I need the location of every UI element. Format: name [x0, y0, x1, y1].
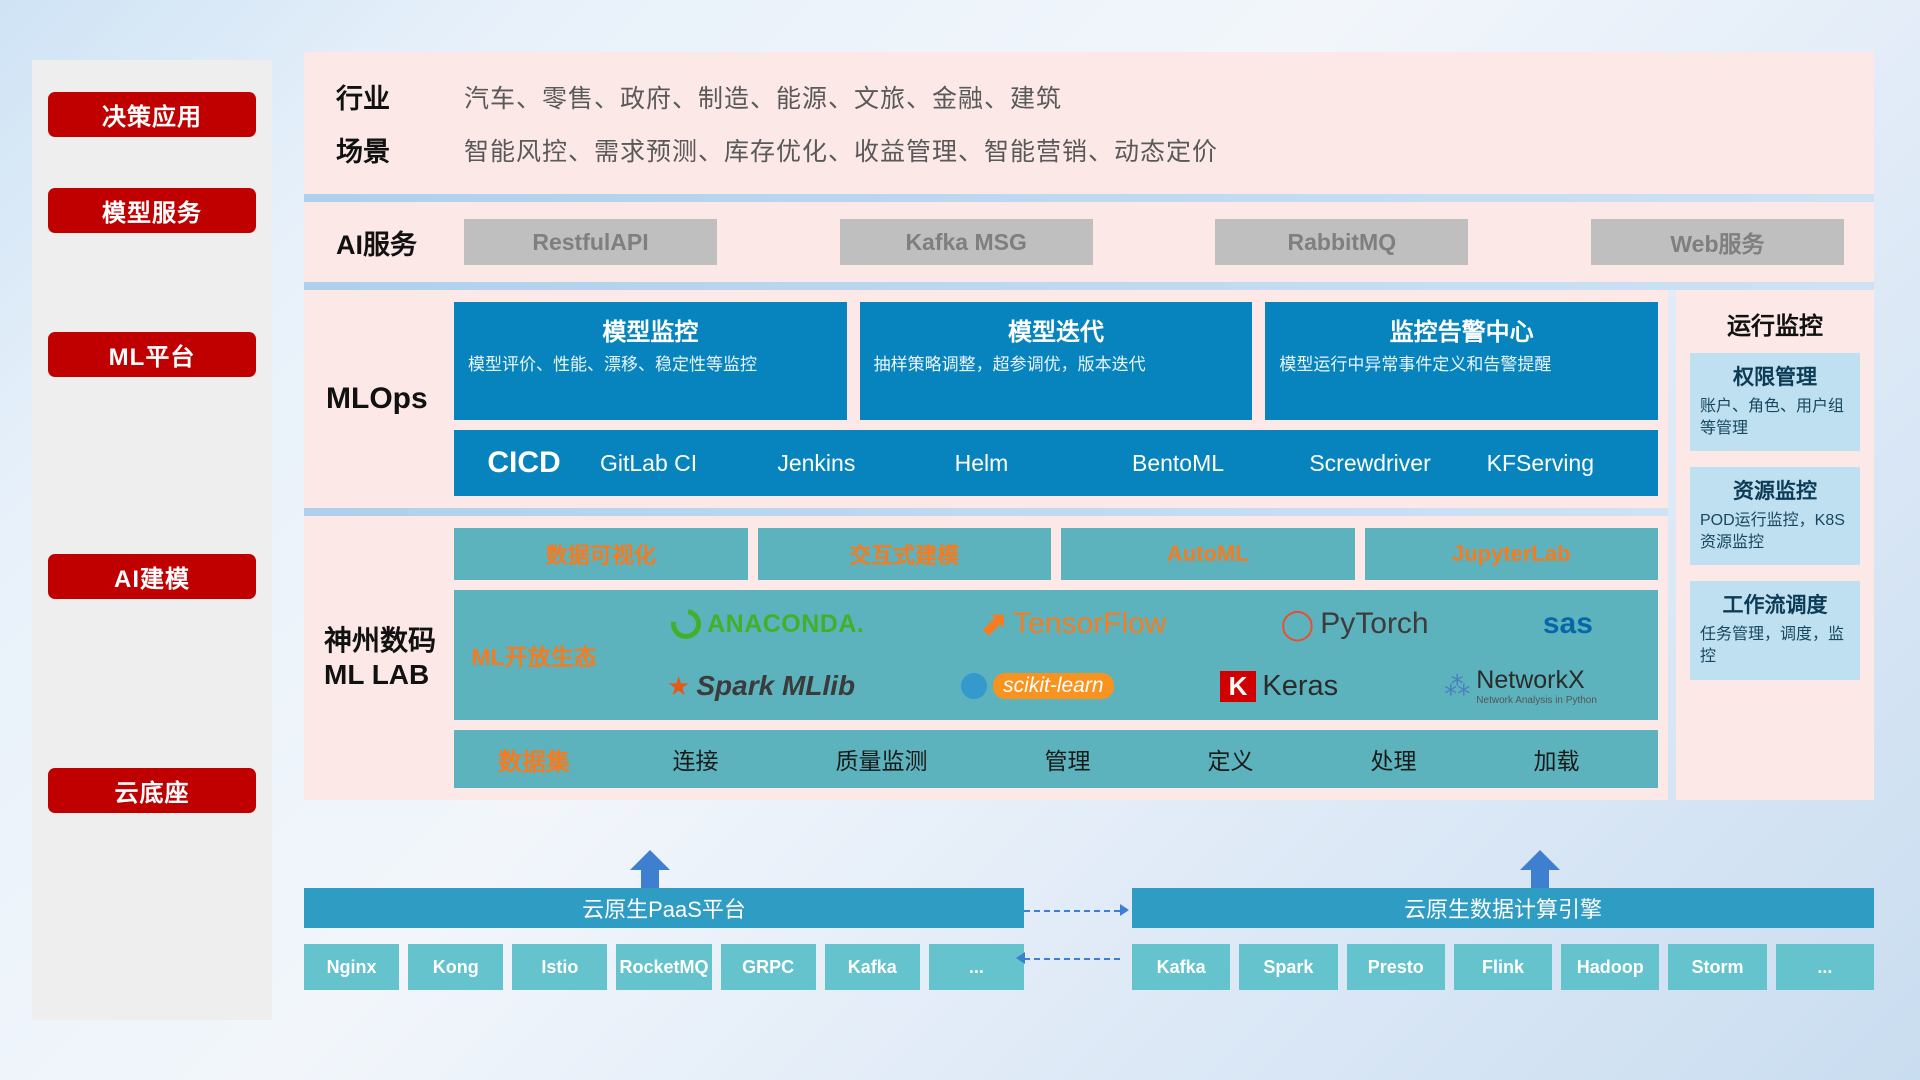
- sas-label: sas: [1543, 607, 1593, 641]
- pytorch-label: PyTorch: [1320, 607, 1428, 641]
- platform-and-monitoring: MLOps 模型监控 模型评价、性能、漂移、稳定性等监控 模型迭代 抽样策略调整…: [304, 290, 1874, 800]
- compute-chip-flink[interactable]: Flink: [1454, 944, 1552, 990]
- dataset-item-process[interactable]: 处理: [1371, 742, 1417, 776]
- card-title: 资源监控: [1700, 475, 1850, 505]
- industry-row: 行业 汽车、零售、政府、制造、能源、文旅、金融、建筑: [304, 70, 1874, 123]
- compute-chip-kafka[interactable]: Kafka: [1132, 944, 1230, 990]
- card-desc: POD运行监控，K8S资源监控: [1700, 510, 1850, 553]
- industry-label: 行业: [304, 77, 464, 116]
- card-title: 监控告警中心: [1279, 312, 1644, 347]
- eco-logo-row-1: ANACONDA. ⬈ TensorFlow ◯ PyT: [614, 595, 1650, 653]
- mlops-card-list: 模型监控 模型评价、性能、漂移、稳定性等监控 模型迭代 抽样策略调整，超参调优，…: [454, 302, 1658, 420]
- card-desc: 抽样策略调整，超参调优，版本迭代: [874, 354, 1239, 377]
- band-divider: [304, 508, 1668, 516]
- ml-lab-tab-list: 数据可视化 交互式建模 AutoML JupyterLab: [454, 528, 1658, 580]
- paas-chip-rocketmq[interactable]: RocketMQ: [616, 944, 711, 990]
- mlops-label: MLOps: [304, 302, 454, 496]
- monitor-card-permission[interactable]: 权限管理 账户、角色、用户组等管理: [1690, 353, 1860, 451]
- mlops-card-alert-center[interactable]: 监控告警中心 模型运行中异常事件定义和告警提醒: [1265, 302, 1658, 420]
- dataset-item-list: 连接 质量监测 管理 定义 处理 加载: [614, 742, 1658, 776]
- main-stack: 行业 汽车、零售、政府、制造、能源、文旅、金融、建筑 场景 智能风控、需求预测、…: [304, 52, 1874, 800]
- mlops-card-model-monitoring[interactable]: 模型监控 模型评价、性能、漂移、稳定性等监控: [454, 302, 847, 420]
- stage-chip-decision-app[interactable]: 决策应用: [48, 92, 256, 137]
- ml-lab-label-line1: 神州数码: [324, 624, 436, 658]
- compute-chip-storm[interactable]: Storm: [1668, 944, 1766, 990]
- monitor-card-workflow[interactable]: 工作流调度 任务管理，调度，监控: [1690, 581, 1860, 679]
- paas-compute-link: [1024, 906, 1136, 964]
- card-title: 权限管理: [1700, 361, 1850, 391]
- industry-values: 汽车、零售、政府、制造、能源、文旅、金融、建筑: [464, 79, 1062, 115]
- runtime-monitoring-sidebar: 运行监控 权限管理 账户、角色、用户组等管理 资源监控 POD运行监控，K8S资…: [1676, 290, 1874, 800]
- lab-tab-data-visualization[interactable]: 数据可视化: [454, 528, 748, 580]
- service-chip-web-service[interactable]: Web服务: [1591, 219, 1844, 265]
- sas-logo: sas: [1543, 607, 1593, 641]
- spark-mllib-label: Spark MLlib: [696, 670, 855, 702]
- service-chip-restfulapi[interactable]: RestfulAPI: [464, 219, 717, 265]
- ml-lab-band: 神州数码 ML LAB 数据可视化 交互式建模 AutoML JupyterLa…: [304, 516, 1668, 800]
- keras-k-icon: K: [1220, 671, 1257, 702]
- dataset-bar: 数据集 连接 质量监测 管理 定义 处理 加载: [454, 730, 1658, 788]
- ai-service-chip-list: RestfulAPI Kafka MSG RabbitMQ Web服务: [464, 219, 1854, 265]
- dataset-item-load[interactable]: 加载: [1534, 742, 1580, 776]
- cicd-item-screwdriver[interactable]: Screwdriver: [1303, 451, 1480, 475]
- anaconda-ring-icon: [665, 603, 707, 645]
- cicd-label: CICD: [454, 446, 594, 480]
- cicd-item-kfserving[interactable]: KFServing: [1481, 451, 1658, 475]
- spark-star-icon: ★: [667, 671, 690, 702]
- cicd-item-bentoml[interactable]: BentoML: [1126, 451, 1303, 475]
- cicd-item-helm[interactable]: Helm: [949, 451, 1126, 475]
- paas-chip-more[interactable]: ...: [929, 944, 1024, 990]
- paas-chip-kong[interactable]: Kong: [408, 944, 503, 990]
- scenario-values: 智能风控、需求预测、库存优化、收益管理、智能营销、动态定价: [464, 132, 1218, 168]
- ml-lab-label-line2: ML LAB: [324, 658, 436, 692]
- dataset-item-define[interactable]: 定义: [1208, 742, 1254, 776]
- card-desc: 模型评价、性能、漂移、稳定性等监控: [468, 354, 833, 377]
- card-desc: 模型运行中异常事件定义和告警提醒: [1279, 354, 1644, 377]
- eco-logo-grid: ANACONDA. ⬈ TensorFlow ◯ PyT: [614, 595, 1658, 715]
- mlops-card-model-iteration[interactable]: 模型迭代 抽样策略调整，超参调优，版本迭代: [860, 302, 1253, 420]
- paas-chip-kafka[interactable]: Kafka: [825, 944, 920, 990]
- tensorflow-label: TensorFlow: [1013, 607, 1166, 641]
- networkx-graph-icon: ⁂: [1444, 671, 1470, 702]
- scikit-dot-icon: [961, 673, 987, 699]
- band-divider: [304, 194, 1874, 202]
- ml-lab-label: 神州数码 ML LAB: [304, 528, 454, 788]
- scenario-label: 场景: [304, 130, 464, 169]
- dataset-item-quality[interactable]: 质量监测: [836, 742, 928, 776]
- cicd-bar: CICD GitLab CI Jenkins Helm BentoML Scre…: [454, 430, 1658, 496]
- architecture-diagram: 决策应用 模型服务 ML平台 AI建模 云底座 行业 汽车、零售、政府、制造、能…: [0, 0, 1920, 1080]
- ai-service-band: AI服务 RestfulAPI Kafka MSG RabbitMQ Web服务: [304, 202, 1874, 282]
- stage-chip-ai-modeling[interactable]: AI建模: [48, 554, 256, 599]
- anaconda-logo: ANACONDA.: [671, 609, 864, 639]
- card-title: 工作流调度: [1700, 589, 1850, 619]
- stage-chip-model-service[interactable]: 模型服务: [48, 188, 256, 233]
- paas-chip-list: Nginx Kong Istio RocketMQ GRPC Kafka ...: [304, 944, 1024, 990]
- networkx-logo: ⁂ NetworkX Network Analysis in Python: [1444, 666, 1597, 706]
- compute-chip-spark[interactable]: Spark: [1239, 944, 1337, 990]
- pytorch-logo: ◯ PyTorch: [1281, 607, 1429, 642]
- cloud-link-gap: [1024, 888, 1132, 990]
- eco-label: ML开放生态: [454, 638, 614, 672]
- networkx-subtitle: Network Analysis in Python: [1476, 695, 1597, 706]
- service-chip-kafka-msg[interactable]: Kafka MSG: [840, 219, 1093, 265]
- band-divider: [304, 282, 1874, 290]
- stage-chip-cloud-base[interactable]: 云底座: [48, 768, 256, 813]
- networkx-label: NetworkX: [1476, 666, 1584, 694]
- service-chip-rabbitmq[interactable]: RabbitMQ: [1215, 219, 1468, 265]
- dataset-label: 数据集: [454, 742, 614, 777]
- tensorflow-logo: ⬈ TensorFlow: [979, 607, 1167, 641]
- keras-logo: K Keras: [1220, 670, 1339, 703]
- card-title: 模型监控: [468, 312, 833, 347]
- card-title: 模型迭代: [874, 312, 1239, 347]
- card-desc: 账户、角色、用户组等管理: [1700, 396, 1850, 439]
- mlops-band: MLOps 模型监控 模型评价、性能、漂移、稳定性等监控 模型迭代 抽样策略调整…: [304, 290, 1668, 508]
- compute-chip-hadoop[interactable]: Hadoop: [1561, 944, 1659, 990]
- monitor-card-resource[interactable]: 资源监控 POD运行监控，K8S资源监控: [1690, 467, 1860, 565]
- paas-chip-grpc[interactable]: GRPC: [721, 944, 816, 990]
- runtime-monitoring-title: 运行监控: [1676, 290, 1874, 353]
- compute-engine-column: 云原生数据计算引擎 Kafka Spark Presto Flink Hadoo…: [1132, 888, 1874, 990]
- compute-chip-presto[interactable]: Presto: [1347, 944, 1445, 990]
- compute-chip-more[interactable]: ...: [1776, 944, 1874, 990]
- scikit-learn-logo: scikit-learn: [961, 673, 1113, 699]
- dataset-item-connect[interactable]: 连接: [673, 742, 719, 776]
- scenario-row: 场景 智能风控、需求预测、库存优化、收益管理、智能营销、动态定价: [304, 123, 1874, 176]
- scikit-learn-label: scikit-learn: [993, 673, 1113, 699]
- tensorflow-mark-icon: ⬈: [979, 607, 1008, 641]
- paas-chip-istio[interactable]: Istio: [512, 944, 607, 990]
- decision-app-band: 行业 汽车、零售、政府、制造、能源、文旅、金融、建筑 场景 智能风控、需求预测、…: [304, 52, 1874, 194]
- ai-service-label: AI服务: [304, 223, 464, 262]
- pytorch-flame-icon: ◯: [1281, 607, 1315, 642]
- stage-chip-ml-platform[interactable]: ML平台: [48, 332, 256, 377]
- card-desc: 任务管理，调度，监控: [1700, 624, 1850, 667]
- cicd-item-gitlab-ci[interactable]: GitLab CI: [594, 451, 771, 475]
- paas-title: 云原生PaaS平台: [304, 888, 1024, 928]
- cicd-item-jenkins[interactable]: Jenkins: [771, 451, 948, 475]
- ml-open-ecosystem: ML开放生态 ANACONDA. ⬈: [454, 590, 1658, 720]
- paas-chip-nginx[interactable]: Nginx: [304, 944, 399, 990]
- compute-chip-list: Kafka Spark Presto Flink Hadoop Storm ..…: [1132, 944, 1874, 990]
- cicd-item-list: GitLab CI Jenkins Helm BentoML Screwdriv…: [594, 451, 1658, 475]
- anaconda-label: ANACONDA.: [707, 610, 864, 639]
- keras-label: Keras: [1262, 670, 1338, 703]
- spark-mllib-logo: ★ Spark MLlib: [667, 670, 855, 702]
- eco-logo-row-2: ★ Spark MLlib scikit-learn: [614, 657, 1650, 715]
- paas-column: 云原生PaaS平台 Nginx Kong Istio RocketMQ GRPC…: [304, 888, 1024, 990]
- dataset-item-manage[interactable]: 管理: [1045, 742, 1091, 776]
- lab-tab-interactive-modeling[interactable]: 交互式建模: [758, 528, 1052, 580]
- lab-tab-automl[interactable]: AutoML: [1061, 528, 1355, 580]
- lab-tab-jupyterlab[interactable]: JupyterLab: [1365, 528, 1659, 580]
- compute-engine-title: 云原生数据计算引擎: [1132, 888, 1874, 928]
- cloud-base-section: 云原生PaaS平台 Nginx Kong Istio RocketMQ GRPC…: [304, 888, 1874, 1038]
